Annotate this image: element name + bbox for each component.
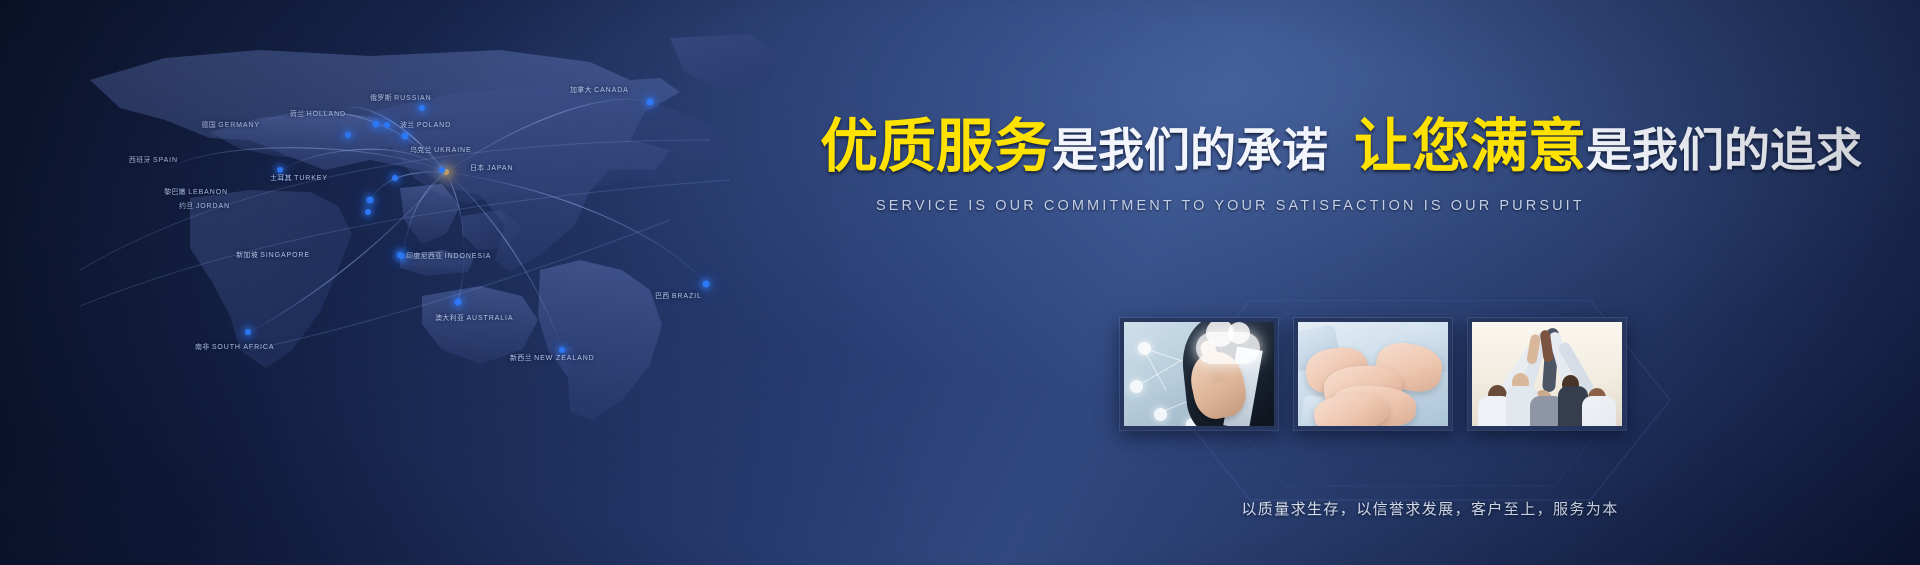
headline: 优质服务是我们的承诺让您满意是我们的追求	[820, 118, 1880, 176]
map-marker-australia	[455, 299, 462, 306]
map-marker-canada	[647, 99, 654, 106]
map-label-lebanon: 黎巴嫩 LEBANON	[164, 187, 228, 197]
map-marker-brazil	[703, 281, 710, 288]
photo-strip	[1120, 318, 1626, 430]
map-label-japan: 日本 JAPAN	[470, 163, 513, 173]
map-label-singapore: 新加坡 SINGAPORE	[236, 250, 310, 260]
bottom-tagline: 以质量求生存，以信誉求发展，客户至上，服务为本	[1120, 498, 1740, 519]
map-marker-turkey	[392, 175, 398, 181]
map-marker-south-africa	[245, 329, 251, 335]
map-marker-germany	[345, 132, 351, 138]
map-marker-russian	[419, 105, 425, 111]
map-label-canada: 加拿大 CANADA	[570, 85, 629, 95]
map-marker-japan	[439, 167, 445, 173]
map-label-australia: 澳大利亚 AUSTRALIA	[435, 313, 513, 323]
map-label-indonesia: 印度尼西亚 INDONESIA	[406, 251, 491, 261]
headline-seg-1: 优质服务	[820, 114, 1052, 179]
map-marker-poland	[384, 122, 390, 128]
world-map: 荷兰 HOLLAND德国 GERMANY波兰 POLAND乌克兰 UKRAINE…	[70, 20, 930, 450]
photo-team-highfive[interactable]	[1468, 318, 1626, 430]
map-label-south-africa: 南非 SOUTH AFRICA	[195, 342, 274, 352]
map-label-turkey: 土耳其 TURKEY	[270, 173, 328, 183]
map-marker-holland	[373, 121, 380, 128]
map-label-poland: 波兰 POLAND	[400, 120, 451, 130]
map-label-jordan: 约旦 JORDAN	[179, 201, 230, 211]
headline-seg-2: 是我们的承诺	[1052, 124, 1328, 176]
map-label-russian: 俄罗斯 RUSSIAN	[370, 93, 432, 103]
headline-block: 优质服务是我们的承诺让您满意是我们的追求 SERVICE IS OUR COMM…	[820, 118, 1880, 214]
map-marker-jordan	[365, 209, 371, 215]
headline-seg-3: 让您满意	[1354, 114, 1586, 179]
map-marker-lebanon	[367, 197, 374, 204]
map-label-brazil: 巴西 BRAZIL	[655, 291, 702, 301]
headline-subtitle: SERVICE IS OUR COMMITMENT TO YOUR SATISF…	[876, 198, 1576, 214]
map-marker-ukraine	[402, 133, 409, 140]
map-label-ukraine: 乌克兰 UKRAINE	[410, 145, 472, 155]
map-label-spain: 西班牙 SPAIN	[129, 155, 178, 165]
map-marker-indonesia	[399, 253, 405, 259]
headline-seg-4: 是我们的追求	[1586, 124, 1862, 176]
map-label-holland: 荷兰 HOLLAND	[290, 109, 346, 119]
map-label-germany: 德国 GERMANY	[201, 120, 260, 130]
map-label-new-zealand: 新西兰 NEW ZEALAND	[510, 353, 595, 363]
photo-cloud-touch[interactable]	[1120, 318, 1278, 430]
promo-banner: 荷兰 HOLLAND德国 GERMANY波兰 POLAND乌克兰 UKRAINE…	[0, 0, 1920, 565]
photo-stacked-hands[interactable]	[1294, 318, 1452, 430]
